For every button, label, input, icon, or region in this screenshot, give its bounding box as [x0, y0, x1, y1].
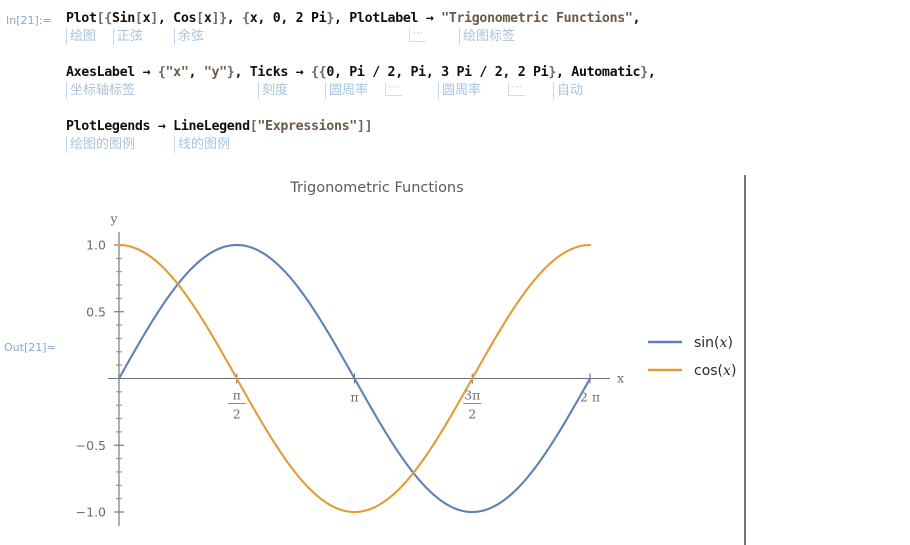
code-hint: ⋯ [385, 82, 402, 96]
x-tick-label-numerator: π [233, 388, 241, 403]
code-line-text[interactable]: AxesLabel → {"x", "y"}, Ticks → {{0, Pi … [66, 62, 656, 84]
x-axis-label: x [617, 371, 624, 386]
code-hint: ⋯ [409, 28, 426, 42]
code-hint: ⋯ [508, 82, 525, 96]
code-hint: 绘图的图例 [66, 136, 135, 153]
code-line-text[interactable]: PlotLegends → LineLegend["Expressions"]] [66, 116, 372, 138]
input-cell[interactable]: Plot[{Sin[x], Cos[x]}, {x, 0, 2 Pi}, Plo… [66, 8, 896, 170]
legend-label[interactable]: cos(x) [694, 363, 736, 379]
input-prompt-label: In[21]:= [6, 14, 52, 27]
code-hint: 自动 [553, 82, 583, 99]
y-tick-label: −0.5 [76, 438, 106, 453]
y-tick-label: 1.0 [86, 238, 106, 253]
code-line[interactable]: Plot[{Sin[x], Cos[x]}, {x, 0, 2 Pi}, Plo… [66, 8, 896, 62]
code-line-text[interactable]: Plot[{Sin[x], Cos[x]}, {x, 0, 2 Pi}, Plo… [66, 8, 640, 30]
code-hints-row: 坐标轴标签刻度圆周率⋯圆周率⋯自动 [66, 82, 896, 108]
code-hints-row: 绘图正弦余弦⋯绘图标签 [66, 28, 896, 54]
code-hint: 刻度 [258, 82, 288, 99]
code-line[interactable]: AxesLabel → {"x", "y"}, Ticks → {{0, Pi … [66, 62, 896, 116]
code-hint: 绘图标签 [459, 28, 515, 45]
x-tick-label-denominator: 2 [233, 407, 241, 422]
x-tick-label-denominator: 2 [468, 407, 476, 422]
code-hint: 正弦 [113, 28, 143, 45]
code-hint: 线的图例 [174, 136, 230, 153]
x-tick-label: π [350, 390, 358, 405]
plot-graphics[interactable]: π2π3π22 π 1.00.5−0.5−1.0 x y sin(x)cos(x… [0, 170, 760, 545]
plot-legend[interactable]: sin(x)cos(x) [648, 335, 736, 379]
code-hint: 余弦 [174, 28, 204, 45]
output-cell[interactable]: Trigonometric Functions π2π3π22 π 1.00.5… [0, 170, 760, 545]
y-axis-label: y [109, 211, 118, 226]
y-axis-tick-labels: 1.00.5−0.5−1.0 [76, 238, 106, 520]
code-hints-row: 绘图的图例线的图例 [66, 136, 896, 162]
y-tick-label: −1.0 [76, 505, 106, 520]
code-hint: 绘图 [66, 28, 96, 45]
x-axis-tick-labels: π2π3π22 π [228, 388, 600, 422]
code-hint: 坐标轴标签 [66, 82, 135, 99]
code-line[interactable]: PlotLegends → LineLegend["Expressions"]]… [66, 116, 896, 170]
code-hint: 圆周率 [325, 82, 368, 99]
y-tick-label: 0.5 [86, 304, 106, 319]
legend-label[interactable]: sin(x) [694, 335, 733, 351]
code-hint: 圆周率 [438, 82, 481, 99]
